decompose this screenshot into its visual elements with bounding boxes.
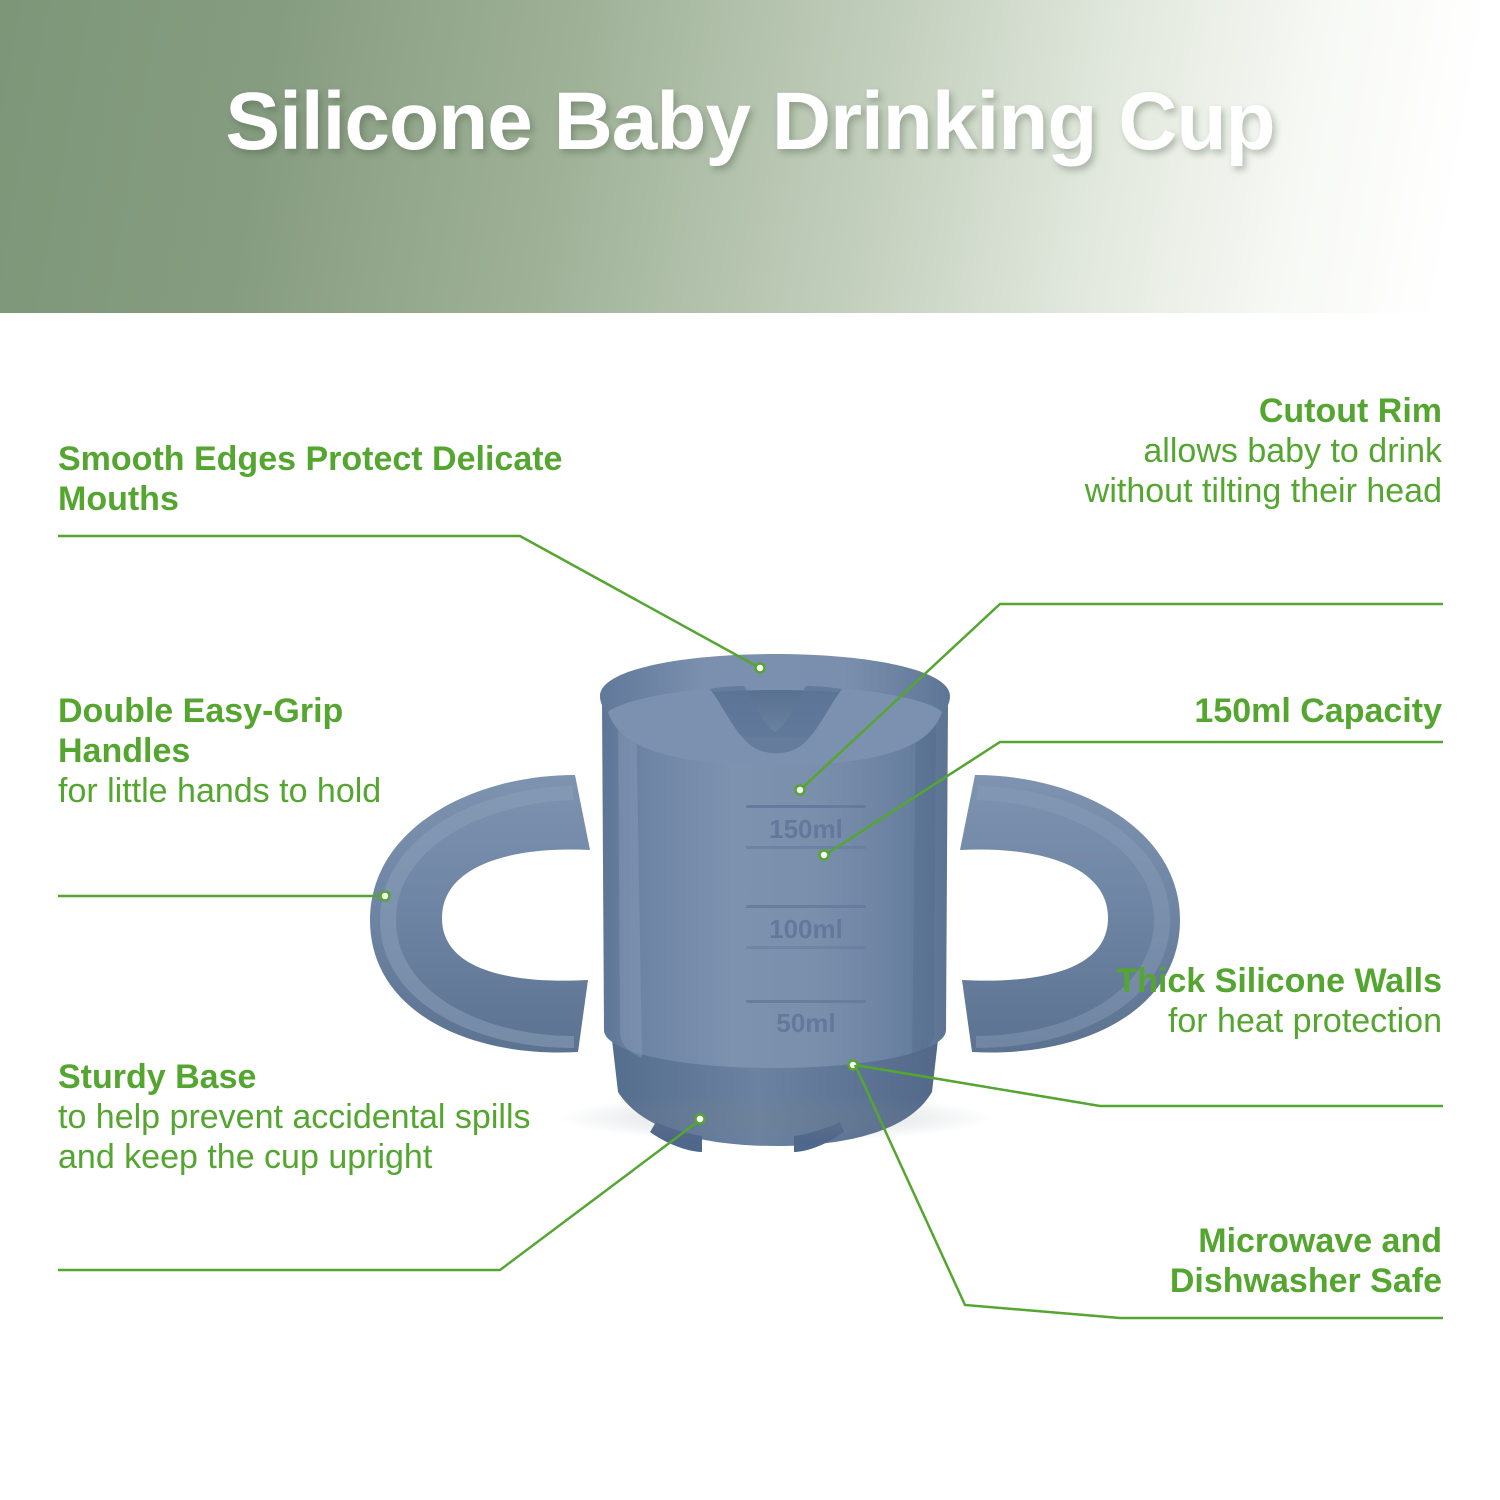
callout-double-handles-sub: for little hands to hold <box>58 772 448 812</box>
callout-sturdy-base-sub: to help prevent accidental spills and ke… <box>58 1098 558 1178</box>
callout-cutout-rim-sub: allows baby to drink without tilting the… <box>1042 432 1442 512</box>
handle-left <box>370 775 590 1053</box>
callout-capacity-title: 150ml Capacity <box>1042 692 1442 732</box>
measure-label-150ml: 150ml <box>769 814 843 844</box>
callout-microwave-dishwasher-title: Microwave and Dishwasher Safe <box>1042 1222 1442 1302</box>
callout-smooth-edges: Smooth Edges Protect Delicate Mouths <box>58 440 578 520</box>
drop-shadow <box>560 1095 990 1141</box>
callout-thick-walls-title: Thick Silicone Walls <box>1042 962 1442 1002</box>
header-banner: Silicone Baby Drinking Cup <box>0 0 1500 313</box>
page-title: Silicone Baby Drinking Cup <box>0 0 1500 313</box>
callout-cutout-rim: Cutout Rim allows baby to drink without … <box>1042 392 1442 511</box>
measure-label-50ml: 50ml <box>776 1008 835 1038</box>
callout-thick-walls: Thick Silicone Walls for heat protection <box>1042 962 1442 1042</box>
callout-sturdy-base-title: Sturdy Base <box>58 1058 558 1098</box>
measure-label-100ml: 100ml <box>769 914 843 944</box>
callout-smooth-edges-title: Smooth Edges Protect Delicate Mouths <box>58 440 578 520</box>
callout-microwave-dishwasher: Microwave and Dishwasher Safe <box>1042 1222 1442 1302</box>
infographic-canvas: Silicone Baby Drinking Cup <box>0 0 1500 1500</box>
cutout-rim <box>600 654 950 766</box>
callout-double-handles: Double Easy-Grip Handles for little hand… <box>58 692 448 811</box>
callout-thick-walls-sub: for heat protection <box>1042 1002 1442 1042</box>
callout-double-handles-title: Double Easy-Grip Handles <box>58 692 448 772</box>
callout-capacity: 150ml Capacity <box>1042 692 1442 732</box>
callout-cutout-rim-title: Cutout Rim <box>1042 392 1442 432</box>
callout-sturdy-base: Sturdy Base to help prevent accidental s… <box>58 1058 558 1177</box>
